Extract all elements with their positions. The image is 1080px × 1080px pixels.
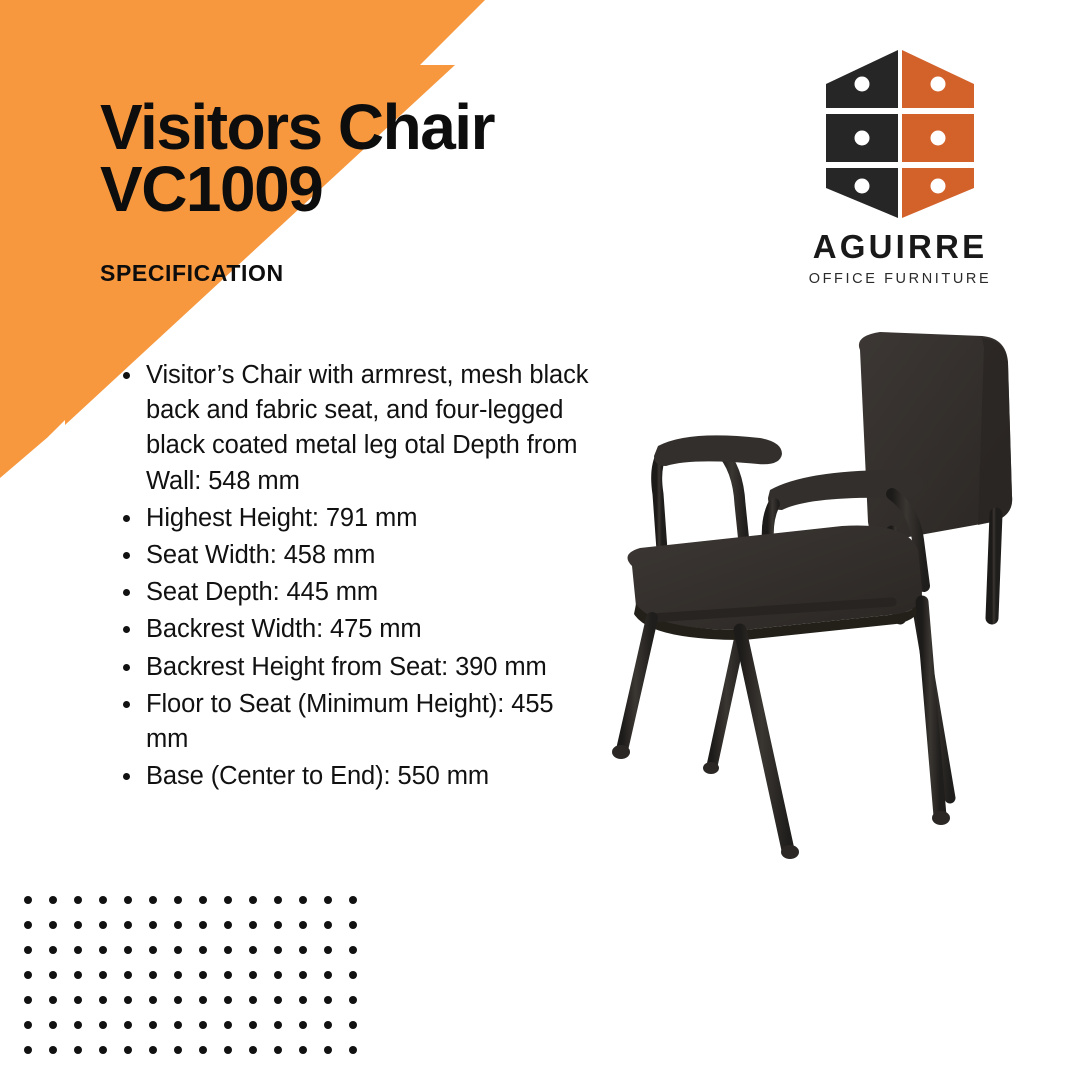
chair-illustration [612, 332, 1012, 859]
list-item: Backrest Height from Seat: 390 mm [104, 650, 596, 685]
aguirre-drawer-hexagon-icon [824, 46, 976, 222]
title-block: Visitors Chair VC1009 SPECIFICATION [100, 96, 660, 287]
page-title: Visitors Chair VC1009 [100, 96, 660, 220]
section-heading: SPECIFICATION [100, 260, 660, 287]
list-item: Seat Width: 458 mm [104, 538, 596, 573]
logo-wordmark: AGUIRRE [800, 228, 1000, 266]
dot-grid-decoration [24, 896, 357, 1054]
logo-tagline: OFFICE FURNITURE [800, 271, 1000, 287]
chair-armrest-left [654, 435, 782, 466]
spec-sheet-page: Visitors Chair VC1009 SPECIFICATION Visi… [0, 0, 1080, 1080]
specification-list: Visitor’s Chair with armrest, mesh black… [104, 358, 596, 796]
list-item: Base (Center to End): 550 mm [104, 759, 596, 794]
list-item: Seat Depth: 445 mm [104, 575, 596, 610]
list-item: Highest Height: 791 mm [104, 501, 596, 536]
list-item: Backrest Width: 475 mm [104, 612, 596, 647]
list-item: Floor to Seat (Minimum Height): 455 mm [104, 687, 596, 757]
product-photo-visitors-chair [592, 318, 1072, 878]
brand-logo: AGUIRRE OFFICE FURNITURE [800, 46, 1000, 287]
list-item: Visitor’s Chair with armrest, mesh black… [104, 358, 596, 499]
